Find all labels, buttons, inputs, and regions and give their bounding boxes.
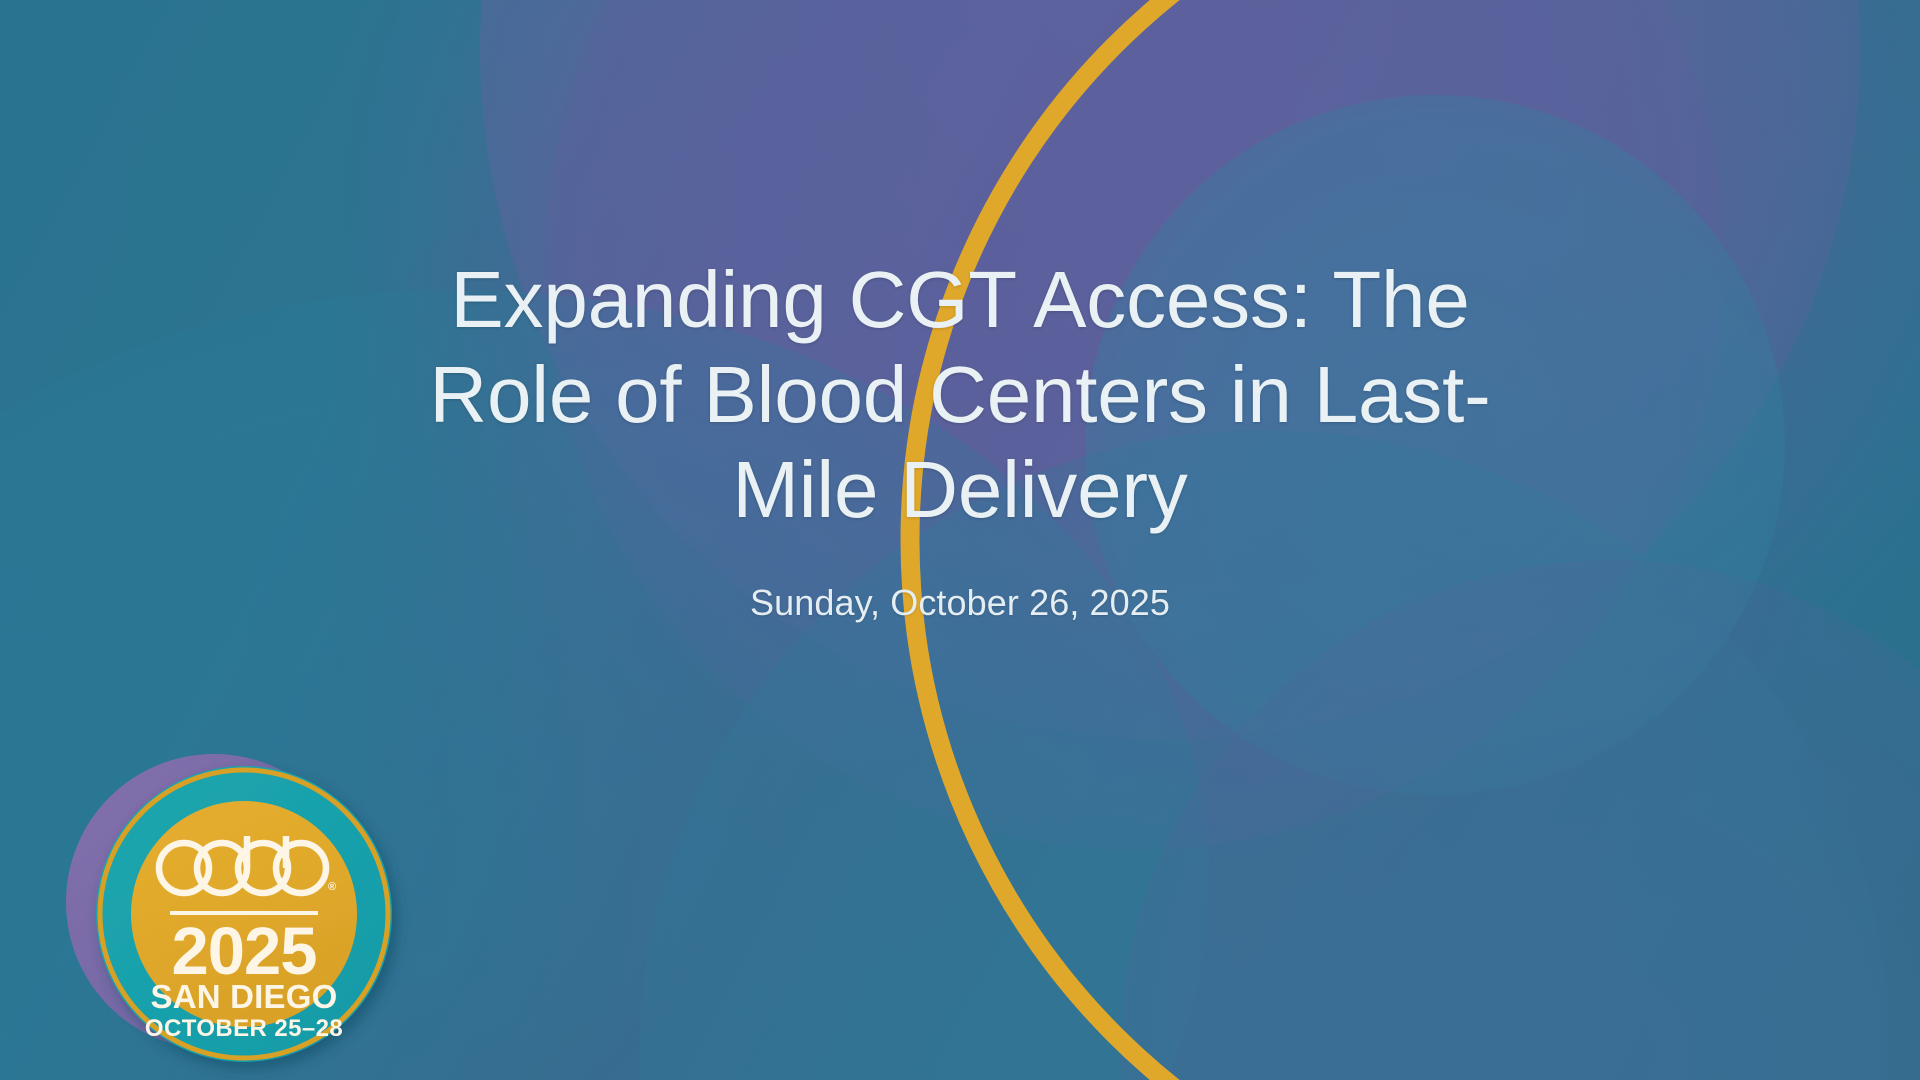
- badge-city: SAN DIEGO: [151, 978, 338, 1015]
- slide-date-subtitle: Sunday, October 26, 2025: [750, 582, 1170, 624]
- title-line-2: Role of Blood Centers in Last-: [295, 347, 1625, 442]
- registered-trademark-symbol: ®: [328, 881, 336, 893]
- page-title: Expanding CGT Access: The Role of Blood …: [295, 252, 1625, 538]
- title-line-3: Mile Delivery: [295, 442, 1625, 537]
- title-slide: Expanding CGT Access: The Role of Blood …: [0, 0, 1920, 1080]
- badge-dates: OCTOBER 25–28: [145, 1015, 343, 1042]
- title-line-1: Expanding CGT Access: The: [295, 252, 1625, 347]
- aabb-2025-conference-badge: ® 2025 SAN DIEGO OCTOBER 25–28: [58, 706, 424, 1080]
